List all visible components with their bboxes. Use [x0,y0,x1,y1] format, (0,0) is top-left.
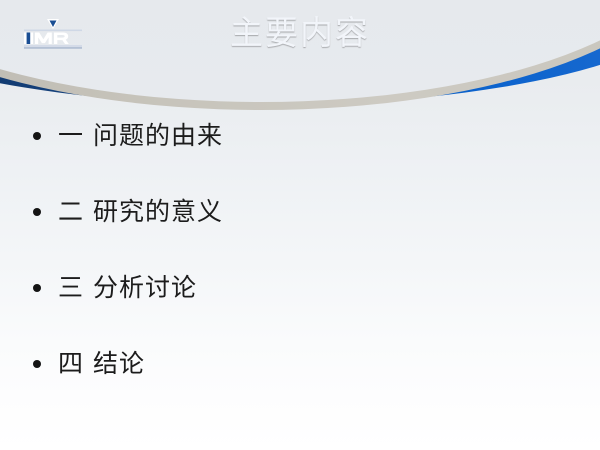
bullet-dot-icon [33,284,41,292]
list-item-label: 二 研究的意义 [58,197,223,227]
list-item[interactable]: 二 研究的意义 [0,174,600,250]
list-item-label: 四 结论 [58,349,145,379]
content-outline-list: 一 问题的由来 二 研究的意义 三 分析讨论 四 结论 [0,98,600,402]
list-item-label: 一 问题的由来 [58,121,223,151]
list-item-label: 三 分析讨论 [58,273,197,303]
bullet-dot-icon [33,208,41,216]
bullet-dot-icon [33,360,41,368]
list-item[interactable]: 一 问题的由来 [0,98,600,174]
bullet-dot-icon [33,132,41,140]
list-item[interactable]: 四 结论 [0,326,600,402]
page-title: 主要内容 [0,12,600,54]
presentation-slide: 主要内容 一 问题的由来 二 研究的意义 三 分析讨论 四 结论 [0,0,600,450]
list-item[interactable]: 三 分析讨论 [0,250,600,326]
